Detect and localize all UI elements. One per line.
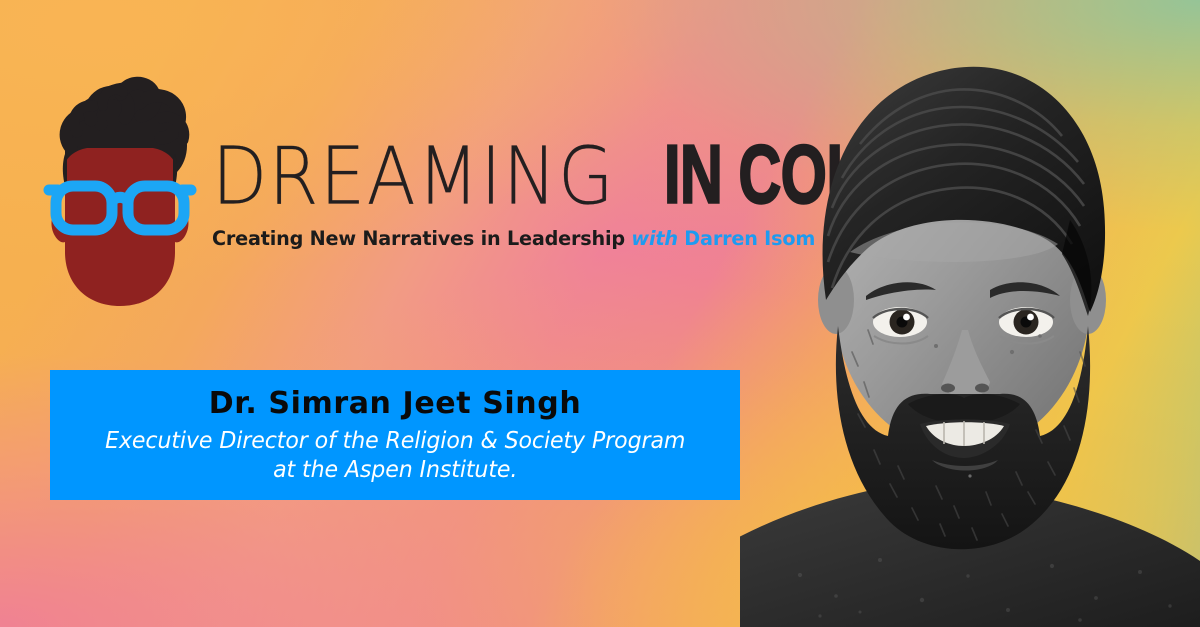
show-tagline: Creating New Narratives in Leadership wi… [212, 227, 744, 250]
guest-name: Dr. Simran Jeet Singh [209, 386, 582, 421]
show-title-light-word: DREAMING [212, 137, 615, 217]
show-title-block: DREAMING IN COLOR Creating New Narrative… [212, 139, 752, 250]
podcast-episode-banner: DREAMING IN COLOR Creating New Narrative… [0, 0, 1200, 627]
tagline-with-word: with [631, 227, 677, 250]
tagline-main-text: Creating New Narratives in Leadership [212, 227, 625, 250]
guest-role-line-2: at the Aspen Institute. [273, 457, 517, 483]
show-title: DREAMING IN COLOR [212, 139, 752, 217]
tagline-host-name: Darren Isom [684, 227, 815, 250]
guest-info-card: Dr. Simran Jeet Singh Executive Director… [50, 370, 740, 500]
show-title-bold-word: IN COLOR [664, 133, 950, 216]
guest-role-line-1: Executive Director of the Religion & Soc… [105, 428, 685, 454]
show-logo-icon[interactable] [41, 62, 199, 310]
guest-role: Executive Director of the Religion & Soc… [105, 427, 685, 483]
